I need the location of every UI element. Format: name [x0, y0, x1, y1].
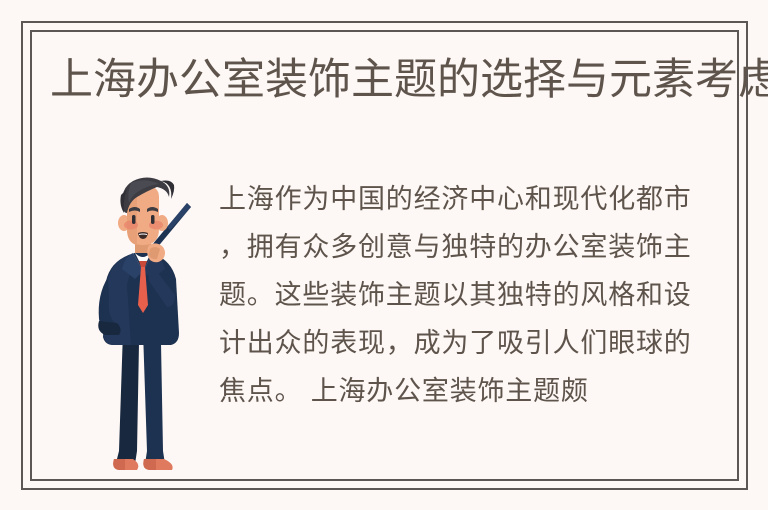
body-line: ，拥有众多创意与独特的办公室装饰主	[219, 223, 651, 271]
businessman-with-pointer-illustration	[75, 173, 225, 483]
body-line: 焦点。 上海办公室装饰主题颇	[219, 367, 651, 415]
article-body: 上海作为中国的经济中心和现代化都市 ，拥有众多创意与独特的办公室装饰主 题。这些…	[219, 175, 651, 415]
article-card: 上海办公室装饰主题的选择与元素考虑	[21, 21, 748, 490]
body-line: 上海作为中国的经济中心和现代化都市	[219, 175, 651, 223]
body-line: 计出众的表现，成为了吸引人们眼球的	[219, 319, 651, 367]
body-line: 题。这些装饰主题以其独特的风格和设	[219, 271, 651, 319]
page-title: 上海办公室装饰主题的选择与元素考虑	[50, 51, 722, 109]
